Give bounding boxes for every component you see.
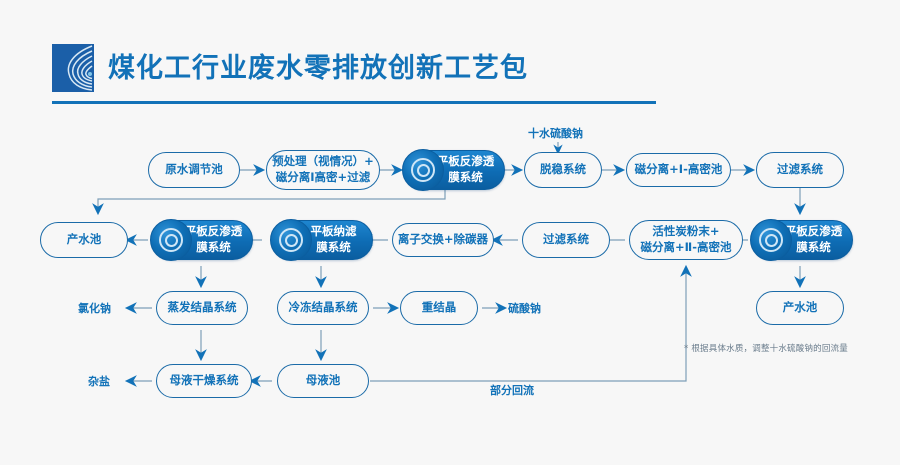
diagram-canvas: 煤化工行业废水零排放创新工艺包 xyxy=(0,0,900,465)
label-mixed-salt: 杂盐 xyxy=(88,376,110,387)
node-flat-ro-membrane-2[interactable]: 平板反渗透 膜系统 xyxy=(152,220,253,260)
node-recrystallization[interactable]: 重结晶 xyxy=(400,291,478,325)
node-label: 产水池 xyxy=(783,300,818,316)
node-flat-ro-membrane-3[interactable]: 平板反渗透 膜系统 xyxy=(752,220,853,260)
node-product-water-tank-2[interactable]: 产水池 xyxy=(756,291,844,325)
node-filtration-system-2[interactable]: 过滤系统 xyxy=(522,222,610,258)
node-mother-liquor-drying[interactable]: 母液干燥系统 xyxy=(156,364,252,398)
node-filtration-system-1[interactable]: 过滤系统 xyxy=(756,152,844,188)
page-title: 煤化工行业废水零排放创新工艺包 xyxy=(108,55,528,82)
water-ripple-logo-icon xyxy=(52,44,94,92)
node-label: 过滤系统 xyxy=(777,162,823,178)
node-evaporation-crystallization[interactable]: 蒸发结晶系统 xyxy=(156,291,248,325)
node-label: 活性炭粉末+ 磁分离+Ⅱ-高密池 xyxy=(641,224,732,255)
label-sodium-chloride: 氯化钠 xyxy=(78,303,111,314)
label-sodium-sulfate: 硫酸钠 xyxy=(508,303,541,314)
node-pretreatment[interactable]: 预处理（视情况）+ 磁分离Ⅰ高密+过滤 xyxy=(266,150,380,190)
node-label: 原水调节池 xyxy=(165,162,223,178)
node-destabilization-system[interactable]: 脱稳系统 xyxy=(524,152,602,188)
node-activated-carbon-magnetic-separation-2[interactable]: 活性炭粉末+ 磁分离+Ⅱ-高密池 xyxy=(629,220,743,260)
node-label: 蒸发结晶系统 xyxy=(168,300,237,316)
node-label: 冷冻结晶系统 xyxy=(289,300,358,316)
node-freeze-crystallization[interactable]: 冷冻结晶系统 xyxy=(277,291,369,325)
node-label: 重结晶 xyxy=(422,300,457,316)
node-magnetic-separation-1[interactable]: 磁分离+Ⅰ-高密池 xyxy=(626,153,731,187)
membrane-disc-icon xyxy=(150,219,192,261)
node-label: 产水池 xyxy=(67,232,102,248)
membrane-disc-icon xyxy=(270,219,312,261)
title-underline xyxy=(52,101,656,104)
node-product-water-tank-1[interactable]: 产水池 xyxy=(40,222,128,258)
footnote-text: * 根据具体水质，调整十水硫酸钠的回流量 xyxy=(684,345,848,354)
node-label: 预处理（视情况）+ 磁分离Ⅰ高密+过滤 xyxy=(272,154,374,185)
membrane-disc-icon xyxy=(402,149,444,191)
node-ion-exchange-decarbonator[interactable]: 离子交换+除碳器 xyxy=(392,223,494,257)
node-flat-ro-membrane-1[interactable]: 平板反渗透 膜系统 xyxy=(404,150,505,190)
node-label: 母液池 xyxy=(306,373,341,389)
node-label: 母液干燥系统 xyxy=(170,373,239,389)
node-label: 离子交换+除碳器 xyxy=(398,232,488,248)
node-label: 脱稳系统 xyxy=(540,162,586,178)
label-partial-recycle: 部分回流 xyxy=(490,385,534,396)
node-mother-liquor-tank[interactable]: 母液池 xyxy=(277,364,369,398)
node-raw-water-tank[interactable]: 原水调节池 xyxy=(148,152,240,188)
node-label: 磁分离+Ⅰ-高密池 xyxy=(635,162,723,178)
page-header: 煤化工行业废水零排放创新工艺包 xyxy=(52,44,528,92)
membrane-disc-icon xyxy=(750,219,792,261)
node-flat-nf-membrane[interactable]: 平板纳滤 膜系统 xyxy=(272,220,373,260)
label-sodium-sulfate-decahydrate: 十水硫酸钠 xyxy=(528,128,583,139)
node-label: 过滤系统 xyxy=(543,232,589,248)
